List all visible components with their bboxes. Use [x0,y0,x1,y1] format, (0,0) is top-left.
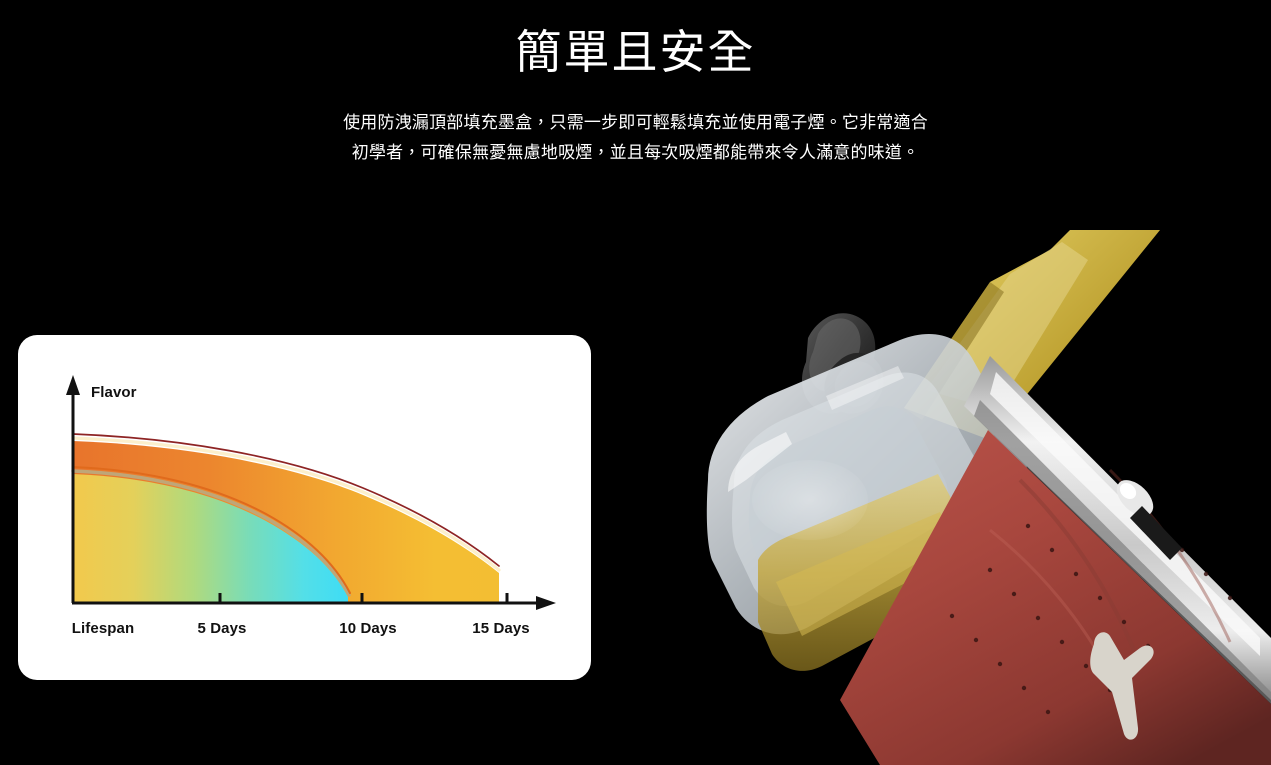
y-axis-label: Flavor [91,384,137,401]
page-header: 簡單且安全 使用防洩漏頂部填充墨盒，只需一步即可輕鬆填充並使用電子煙。它非常適合… [0,0,1271,168]
x-tick-label-5days: 5 Days [198,620,247,637]
x-axis-tick-labels: Lifespan 5 Days 10 Days 15 Days [18,620,591,650]
x-axis-arrow [536,596,556,610]
page-subtitle: 使用防洩漏頂部填充墨盒，只需一步即可輕鬆填充並使用電子煙。它非常適合初學者，可確… [336,82,936,168]
vape-device-illustration [690,230,1271,765]
y-axis-arrow [66,375,80,395]
page-title: 簡單且安全 [0,22,1271,82]
x-tick-label-10days: 10 Days [339,620,396,637]
product-image [690,230,1271,765]
x-tick-label-15days: 15 Days [472,620,529,637]
x-tick-label-lifespan: Lifespan [72,620,134,637]
